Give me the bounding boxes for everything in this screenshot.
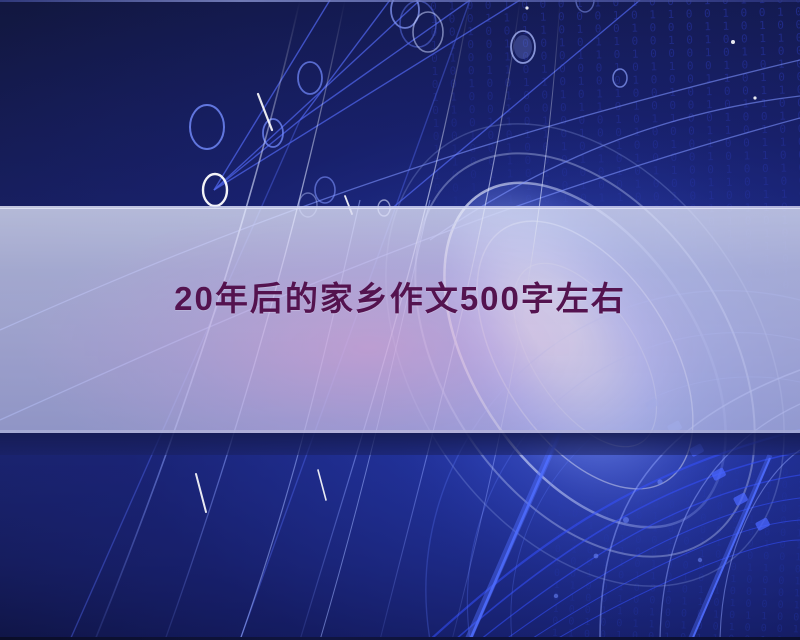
band-under-strip: [0, 433, 800, 455]
top-hairline: [0, 0, 800, 2]
banner-image: 0 1 0 0 1 0 0 0 1 1 0 1 0 0 0 1 0 1 1 0 …: [0, 0, 800, 640]
headline-band: [0, 208, 800, 433]
page-title: 20年后的家乡作文500字左右: [0, 272, 800, 320]
